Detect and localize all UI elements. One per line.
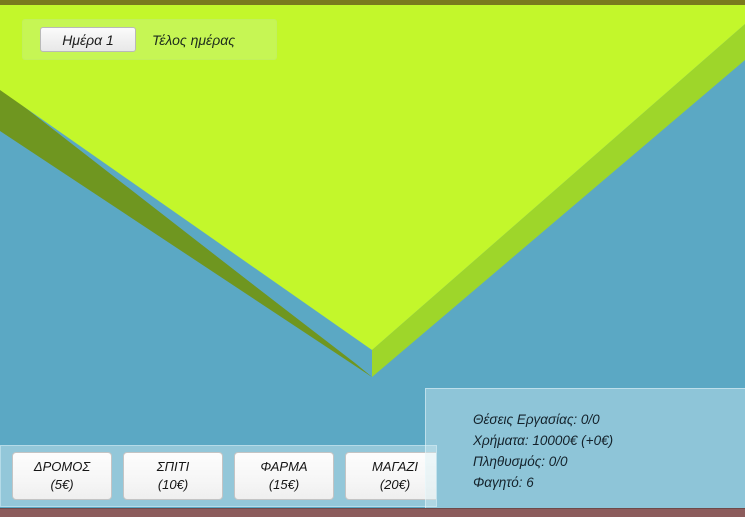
day-toolbar: Ημέρα 1 Τέλος ημέρας [22,19,277,60]
stat-money: Χρήματα: 10000€ (+0€) [473,430,745,451]
build-button-road[interactable]: ΔΡΟΜΟΣ (5€) [12,452,112,500]
day-counter-button[interactable]: Ημέρα 1 [40,27,136,52]
build-button-road-label: ΔΡΟΜΟΣ [34,458,90,476]
stat-food: Φαγητό: 6 [473,472,745,493]
end-day-button[interactable]: Τέλος ημέρας [152,32,235,48]
build-button-shop[interactable]: ΜΑΓΑΖΙ (20€) [345,452,437,500]
build-button-shop-cost: (20€) [380,476,410,494]
build-button-house-label: ΣΠΙΤΙ [157,458,189,476]
build-button-farm[interactable]: ΦΑΡΜΑ (15€) [234,452,334,500]
window-top-border [0,0,745,5]
build-toolbar: ΔΡΟΜΟΣ (5€) ΣΠΙΤΙ (10€) ΦΑΡΜΑ (15€) ΜΑΓΑ… [0,445,437,507]
build-button-road-cost: (5€) [50,476,73,494]
game-window: Ημέρα 1 Τέλος ημέρας ΔΡΟΜΟΣ (5€) ΣΠΙΤΙ (… [0,0,745,517]
build-button-shop-label: ΜΑΓΑΖΙ [372,458,418,476]
build-button-house-cost: (10€) [158,476,188,494]
build-button-farm-cost: (15€) [269,476,299,494]
stats-panel: Θέσεις Εργασίας: 0/0 Χρήματα: 10000€ (+0… [425,388,745,508]
build-button-house[interactable]: ΣΠΙΤΙ (10€) [123,452,223,500]
stat-population: Πληθυσμός: 0/0 [473,451,745,472]
stat-jobs: Θέσεις Εργασίας: 0/0 [473,409,745,430]
build-button-farm-label: ΦΑΡΜΑ [260,458,307,476]
window-bottom-border [0,508,745,517]
